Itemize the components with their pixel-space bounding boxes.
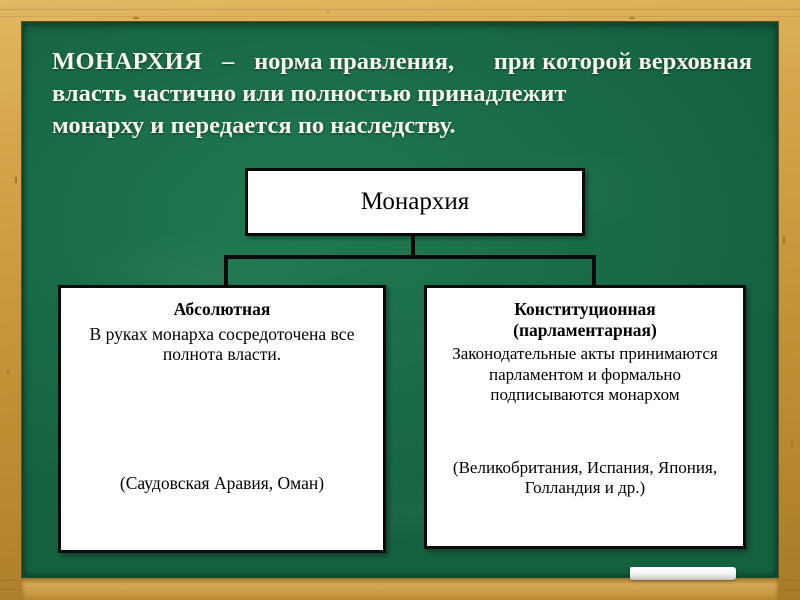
node-absolute-description: В руках монарха сосредоточена все полнот…: [73, 324, 371, 366]
node-absolute-heading: Абсолютная: [73, 299, 371, 320]
title-rest-a: норма правления,: [254, 48, 454, 75]
page-title: МОНАРХИЯ – норма правления, при которой …: [52, 46, 752, 142]
board-ledge: [22, 578, 778, 600]
chalk-stick[interactable]: [630, 567, 736, 580]
title-line3: монарху и передается по наследству.: [52, 110, 752, 142]
node-constitutional-heading: Конституционная (парламентарная): [439, 299, 731, 340]
node-absolute-examples: (Саудовская Аравия, Оман): [73, 473, 371, 494]
node-absolute-monarchy[interactable]: Абсолютная В руках монарха сосредоточена…: [58, 285, 386, 553]
title-rest-b: при которой: [494, 48, 632, 75]
node-root-label: Монархия: [361, 188, 469, 216]
node-monarchy-root[interactable]: Монархия: [245, 168, 585, 236]
node-constitutional-heading-line2: (парламентарная): [513, 320, 657, 340]
connector-right-drop: [592, 255, 596, 288]
connector-left-drop: [224, 255, 228, 288]
node-constitutional-monarchy[interactable]: Конституционная (парламентарная) Законод…: [424, 285, 746, 549]
connector-horizontal-bar: [224, 255, 596, 259]
slide-canvas: МОНАРХИЯ – норма правления, при которой …: [0, 0, 800, 600]
node-constitutional-heading-line1: Конституционная: [514, 299, 656, 319]
node-constitutional-examples: (Великобритания, Испания, Япония, Голлан…: [439, 458, 731, 498]
node-constitutional-description: Законодательные акты принимаются парламе…: [439, 344, 731, 405]
title-keyword: МОНАРХИЯ: [52, 48, 202, 75]
title-dash: –: [222, 48, 234, 75]
